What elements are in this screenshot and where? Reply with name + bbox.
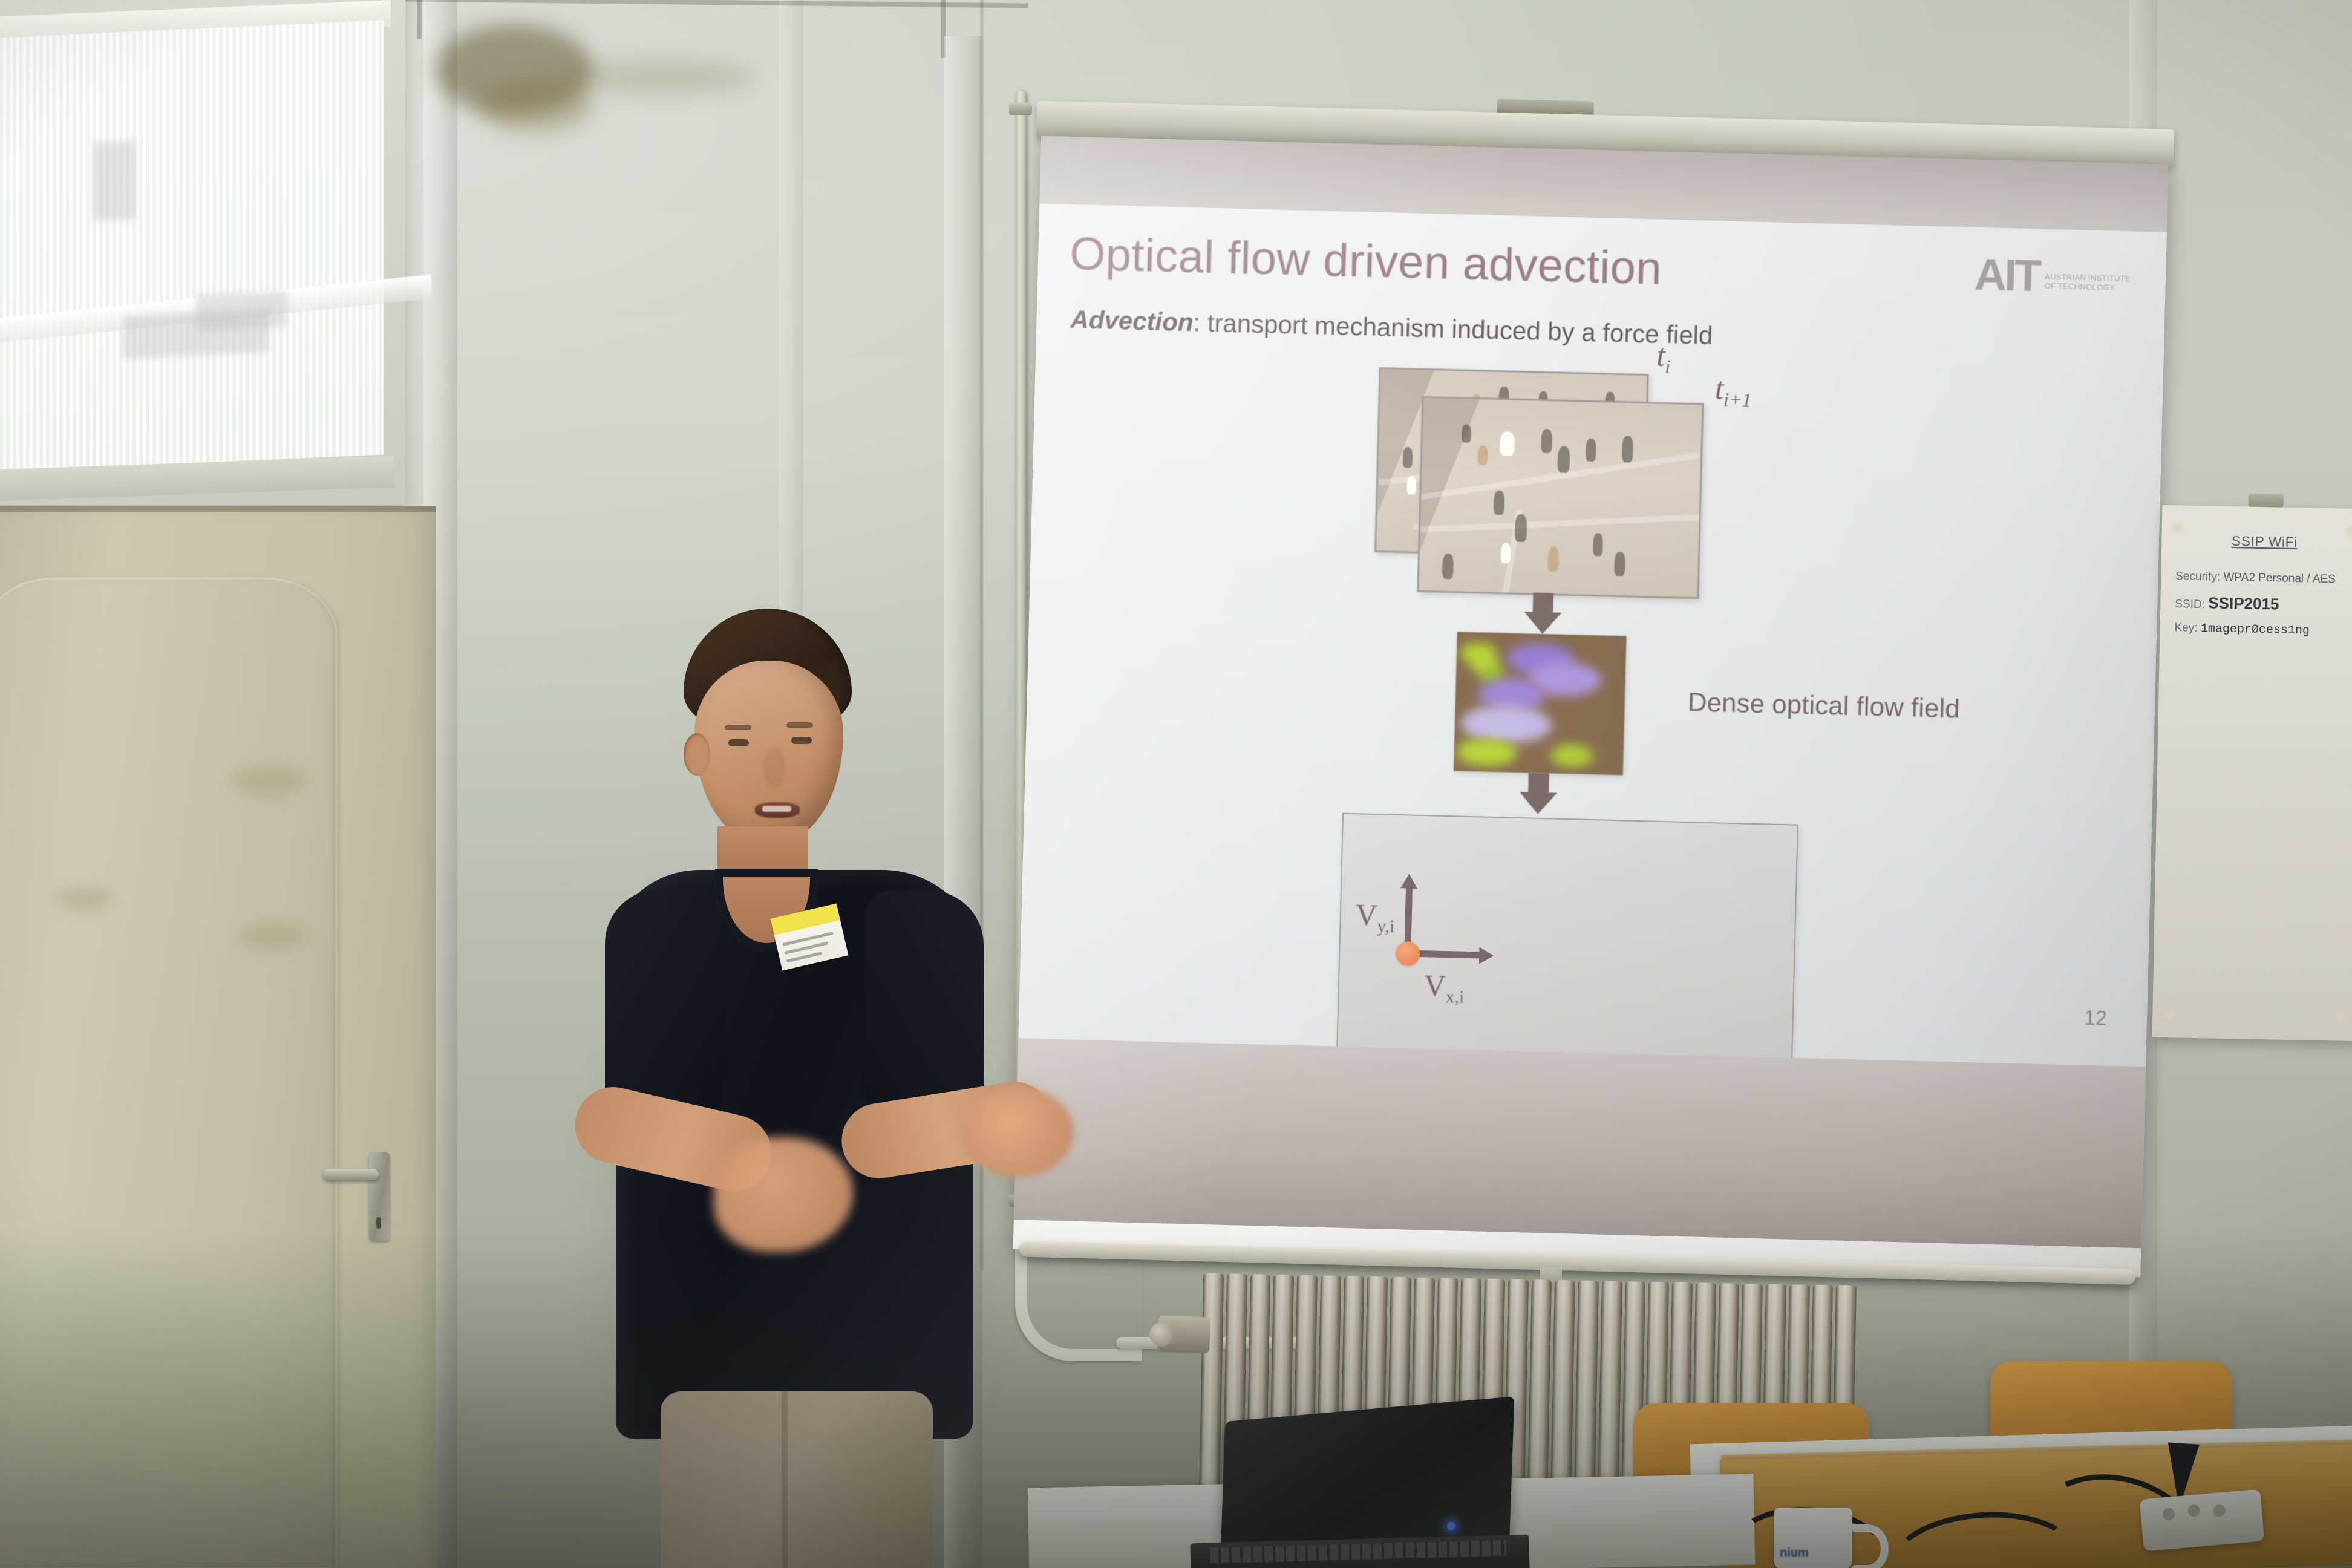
- vector-label-vx-base: V: [1423, 968, 1446, 1002]
- frame-pedestrian: [1501, 543, 1511, 563]
- wifi-sign-title: SSIP WiFi: [2174, 532, 2352, 552]
- flow-blob-lavender: [1460, 705, 1552, 745]
- wall-seam-vertical-a: [417, 0, 422, 39]
- arrow-head: [1524, 612, 1562, 635]
- room-floor-shadow: [0, 1229, 2352, 1568]
- slide-page-number: 12: [2084, 1007, 2108, 1031]
- screen-bottom-margin: [1014, 1038, 2146, 1248]
- wifi-sign-corner-mark-bl: [2163, 1008, 2174, 1019]
- window-frame: [0, 0, 405, 505]
- frame-pedestrian: [1586, 439, 1596, 462]
- video-frame-t-i-plus-1: [1417, 396, 1704, 599]
- vector-label-vy-base: V: [1355, 897, 1378, 932]
- frame-pedestrian: [1622, 436, 1633, 462]
- frame-pedestrian: [1557, 446, 1570, 472]
- projection-screen: Optical flow driven advection AIT AUSTRI…: [1008, 101, 2174, 1297]
- frame-background: [1419, 398, 1702, 598]
- vector-label-vx: Vx,i: [1423, 967, 1465, 1008]
- arrow-down-to-flow-field: [1524, 592, 1563, 636]
- flow-field-caption: Dense optical flow field: [1687, 687, 1960, 724]
- ait-logo-subtitle-line2: OF TECHNOLOGY: [2044, 281, 2115, 292]
- wifi-security-line: Security: WPA2 Personal / AES: [2175, 570, 2352, 587]
- presenter-eye-left: [728, 739, 749, 746]
- frame-pedestrian: [1500, 431, 1515, 456]
- wifi-key-value: 1mageprØcess1ng: [2201, 622, 2310, 638]
- frame-pedestrian: [1462, 424, 1472, 442]
- vector-arrowhead-y: [1400, 874, 1418, 889]
- screen-surface: Optical flow driven advection AIT AUSTRI…: [1013, 136, 2169, 1278]
- vector-origin-dot: [1396, 941, 1420, 966]
- presenter-hand-right: [962, 1086, 1074, 1177]
- presenter-eye-right: [791, 737, 812, 744]
- vector-arm-x: [1410, 950, 1480, 959]
- frame-label-t-i: ti: [1656, 338, 1671, 378]
- presenter-teeth: [762, 806, 791, 812]
- slide-title: Optical flow driven advection: [1069, 227, 1662, 295]
- window-blur-shape-b: [196, 291, 287, 332]
- frame-pedestrian: [1515, 514, 1527, 542]
- window-blur-shape-c: [93, 140, 136, 221]
- ait-logo-mark: AIT: [1974, 256, 2040, 294]
- frame-pedestrian: [1403, 447, 1413, 468]
- wifi-sign-mount-clip: [2248, 494, 2283, 508]
- slide-subtitle-emphasis: Advection: [1070, 305, 1194, 336]
- frame-pedestrian: [1614, 552, 1625, 576]
- ait-logo-subtitle: AUSTRIAN INSTITUTE OF TECHNOLOGY: [2044, 272, 2131, 296]
- ait-logo: AIT AUSTRIAN INSTITUTE OF TECHNOLOGY: [1974, 256, 2131, 296]
- door-stain-b: [238, 923, 305, 950]
- dense-optical-flow-image: [1454, 632, 1627, 775]
- vector-arrowhead-x: [1479, 947, 1494, 964]
- presenter-eyebrow-right: [786, 722, 813, 728]
- arrow-down-to-vector-box: [1519, 773, 1558, 817]
- frame-pedestrian: [1593, 533, 1603, 556]
- frame-label-t-i-plus-1: ti+1: [1714, 371, 1753, 411]
- wifi-security-value: WPA2 Personal / AES: [2223, 571, 2336, 586]
- door-handle-lever[interactable]: [323, 1169, 379, 1180]
- flow-blob-green-e: [1550, 744, 1593, 767]
- projected-slide: Optical flow driven advection AIT AUSTRI…: [1018, 204, 2166, 1067]
- wifi-key-line: Key: 1mageprØcess1ng: [2174, 621, 2352, 639]
- slide-subtitle-rest: : transport mechanism induced by a force…: [1193, 308, 1713, 350]
- door-top-edge: [0, 506, 436, 512]
- wifi-key-label: Key:: [2174, 621, 2197, 635]
- frame-pedestrian: [1406, 476, 1416, 494]
- velocity-vector-box: Vy,i Vx,i: [1336, 813, 1798, 1067]
- frame-pedestrian: [1478, 445, 1488, 465]
- vector-label-vx-sub: x,i: [1445, 987, 1465, 1007]
- pipe-clamp-upper: [1009, 103, 1032, 115]
- frame-label-t-i-plus-1-sub: i+1: [1723, 388, 1752, 411]
- frame-pedestrian: [1442, 554, 1454, 579]
- presenter-nose: [763, 749, 785, 789]
- badge-text-line: [786, 952, 822, 962]
- wifi-sign-corner-mark-br: [2336, 1012, 2347, 1023]
- frame-pedestrian: [1541, 429, 1552, 453]
- frame-pedestrian: [1494, 491, 1505, 515]
- door-stain-c: [57, 887, 111, 911]
- presenter-ear: [684, 733, 710, 776]
- window-glass: [0, 20, 384, 472]
- slide-subtitle: Advection: transport mechanism induced b…: [1070, 305, 1713, 350]
- door-stain-a: [232, 766, 305, 796]
- wifi-security-label: Security:: [2175, 570, 2220, 583]
- vector-label-vy-sub: y,i: [1377, 916, 1395, 936]
- photo-scene: Optical flow driven advection AIT AUSTRI…: [0, 0, 2352, 1568]
- arrow-head: [1519, 792, 1557, 815]
- ceiling-stain-small: [478, 79, 593, 133]
- wifi-ssid-line: SSID: SSIP2015: [2175, 593, 2352, 615]
- slide-content: Optical flow driven advection AIT AUSTRI…: [1018, 204, 2166, 1067]
- ceiling-stain-streak: [563, 58, 756, 96]
- vector-label-vy: Vy,i: [1355, 897, 1396, 937]
- wifi-info-sign: SSIP WiFi Security: WPA2 Personal / AES …: [2152, 505, 2352, 1041]
- frame-pedestrian: [1547, 546, 1559, 572]
- wifi-ssid-label: SSID:: [2175, 598, 2205, 611]
- frame-label-t-i-sub: i: [1665, 355, 1671, 377]
- presenter-eyebrow-left: [725, 725, 751, 730]
- door-keyhole: [376, 1217, 381, 1229]
- wifi-ssid-value: SSIP2015: [2208, 593, 2279, 613]
